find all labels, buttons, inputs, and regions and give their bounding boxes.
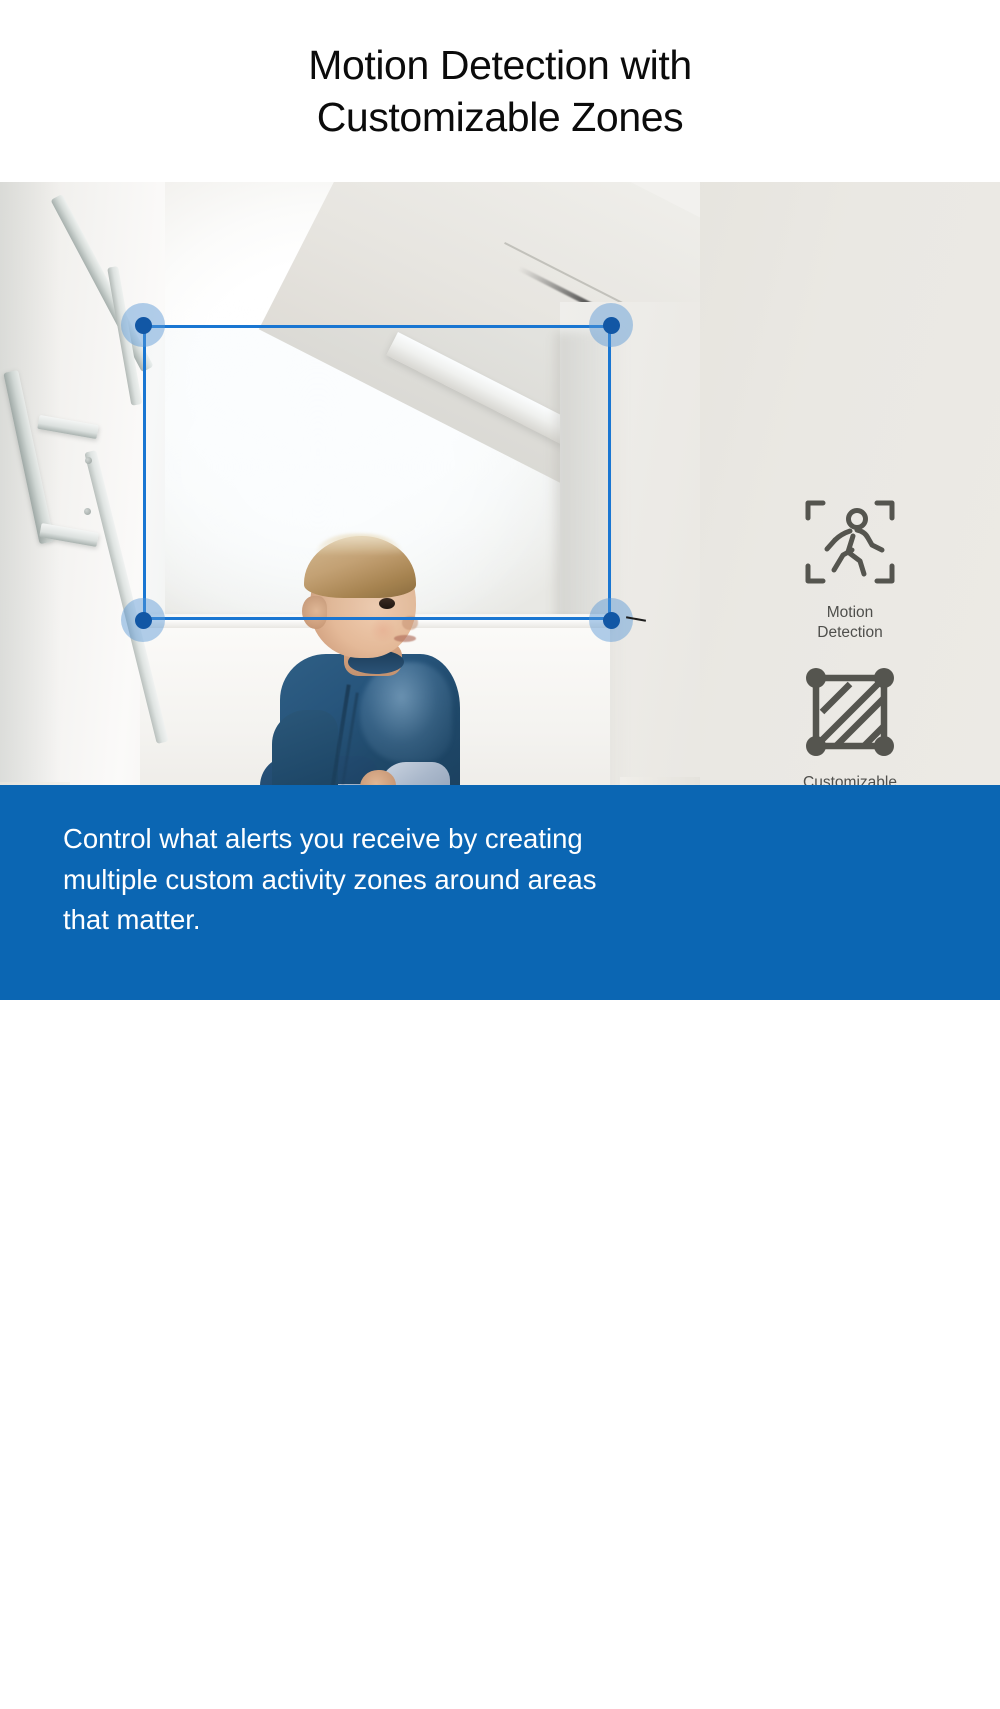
- feature-label-line-1: Motion: [700, 603, 1000, 623]
- feature-list: Motion Detection: [700, 364, 1000, 785]
- banner-copy-line-1: Control what alerts you receive by creat…: [63, 819, 683, 860]
- baby-mouth: [394, 635, 416, 642]
- zone-handle-bottom-right[interactable]: [589, 598, 633, 642]
- footer-banner: Control what alerts you receive by creat…: [0, 785, 1000, 1000]
- zone-handle-bottom-left[interactable]: [121, 598, 165, 642]
- banner-copy-line-2: multiple custom activity zones around ar…: [63, 860, 683, 901]
- header: Motion Detection with Customizable Zones: [0, 0, 1000, 182]
- product-feature-card: Motion Detection with Customizable Zones: [0, 0, 1000, 1000]
- banner-copy-line-3: that matter.: [63, 900, 683, 941]
- baby-torso-highlight: [360, 662, 452, 762]
- zone-handle-top-left[interactable]: [121, 303, 165, 347]
- customizable-activity-zones-icon: [802, 664, 898, 760]
- handrail-screw-upper: [85, 457, 92, 464]
- photo-stage: Motion Detection: [0, 182, 1000, 785]
- page-title-line-1: Motion Detection with: [308, 39, 692, 91]
- feature-motion-detection-label: Motion Detection: [700, 603, 1000, 643]
- tapo-logo: [782, 1647, 952, 1709]
- handrail-screw-lower: [84, 508, 91, 515]
- baby-arm: [272, 710, 338, 785]
- activity-zone-rectangle[interactable]: [143, 325, 611, 620]
- zone-handle-top-right[interactable]: [589, 303, 633, 347]
- feature-label-line-1: Customizable: [700, 773, 1000, 785]
- stair-wall-right: [620, 777, 700, 785]
- page-title-line-2: Customizable Zones: [308, 91, 692, 143]
- banner-description: Control what alerts you receive by creat…: [63, 819, 683, 941]
- page-title: Motion Detection with Customizable Zones: [268, 39, 732, 144]
- motion-detection-icon: [802, 494, 898, 590]
- feature-label-line-2: Detection: [700, 623, 1000, 643]
- feature-customizable-zones: Customizable Activity Zones: [700, 664, 1000, 785]
- feature-motion-detection: Motion Detection: [700, 494, 1000, 643]
- feature-customizable-zones-label: Customizable Activity Zones: [700, 773, 1000, 785]
